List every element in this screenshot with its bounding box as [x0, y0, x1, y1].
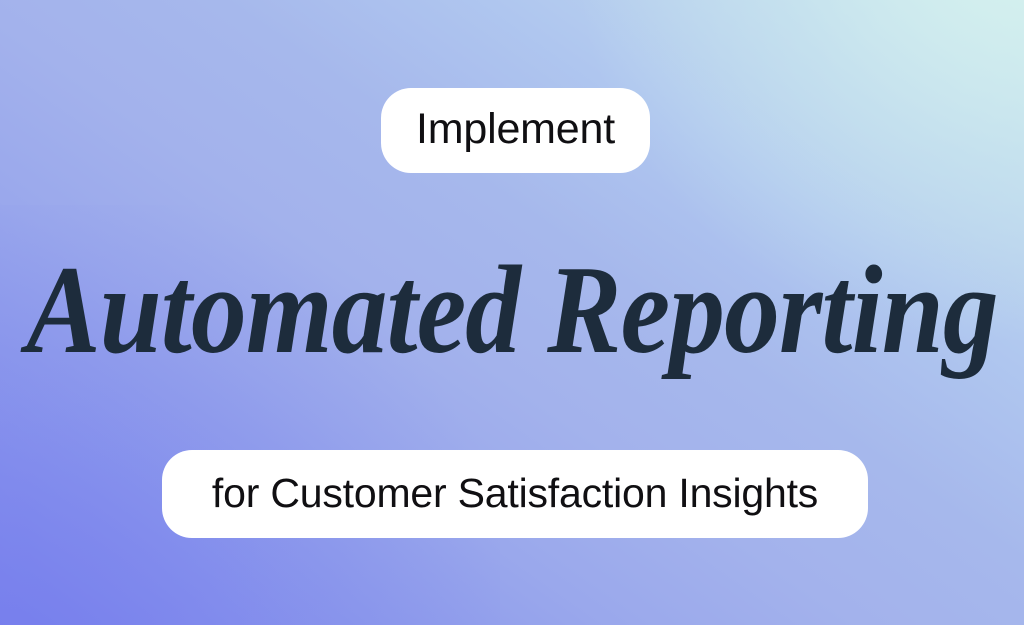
subtitle-pill: for Customer Satisfaction Insights [162, 450, 868, 538]
page-title: Automated Reporting [59, 246, 965, 376]
subtitle-label: for Customer Satisfaction Insights [212, 473, 818, 514]
title-stack: Implement Automated Reporting for Custom… [0, 0, 1024, 625]
eyebrow-label: Implement [416, 108, 615, 151]
headline-text: Automated Reporting [26, 248, 997, 374]
title-card-slide: Implement Automated Reporting for Custom… [0, 0, 1024, 625]
eyebrow-pill: Implement [381, 88, 650, 173]
